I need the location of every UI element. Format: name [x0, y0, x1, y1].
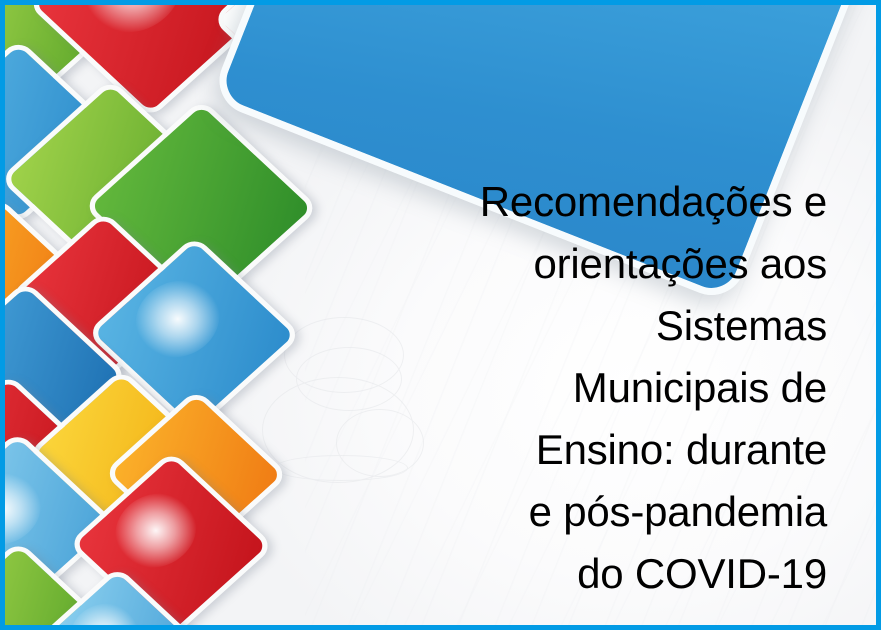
title-line: do COVID-19: [357, 543, 827, 605]
title-line: e pós-pandemia: [357, 481, 827, 543]
title-line: orientações aos: [357, 233, 827, 295]
title-line: Sistemas: [357, 295, 827, 357]
title-line: Municipais de: [357, 357, 827, 419]
title-line: Recomendações e: [357, 171, 827, 233]
title-line: Ensino: durante: [357, 419, 827, 481]
slide-title: Recomendações eorientações aosSistemasMu…: [357, 171, 827, 605]
slide-background: Recomendações eorientações aosSistemasMu…: [5, 5, 876, 625]
slide-canvas: Recomendações eorientações aosSistemasMu…: [0, 0, 881, 630]
